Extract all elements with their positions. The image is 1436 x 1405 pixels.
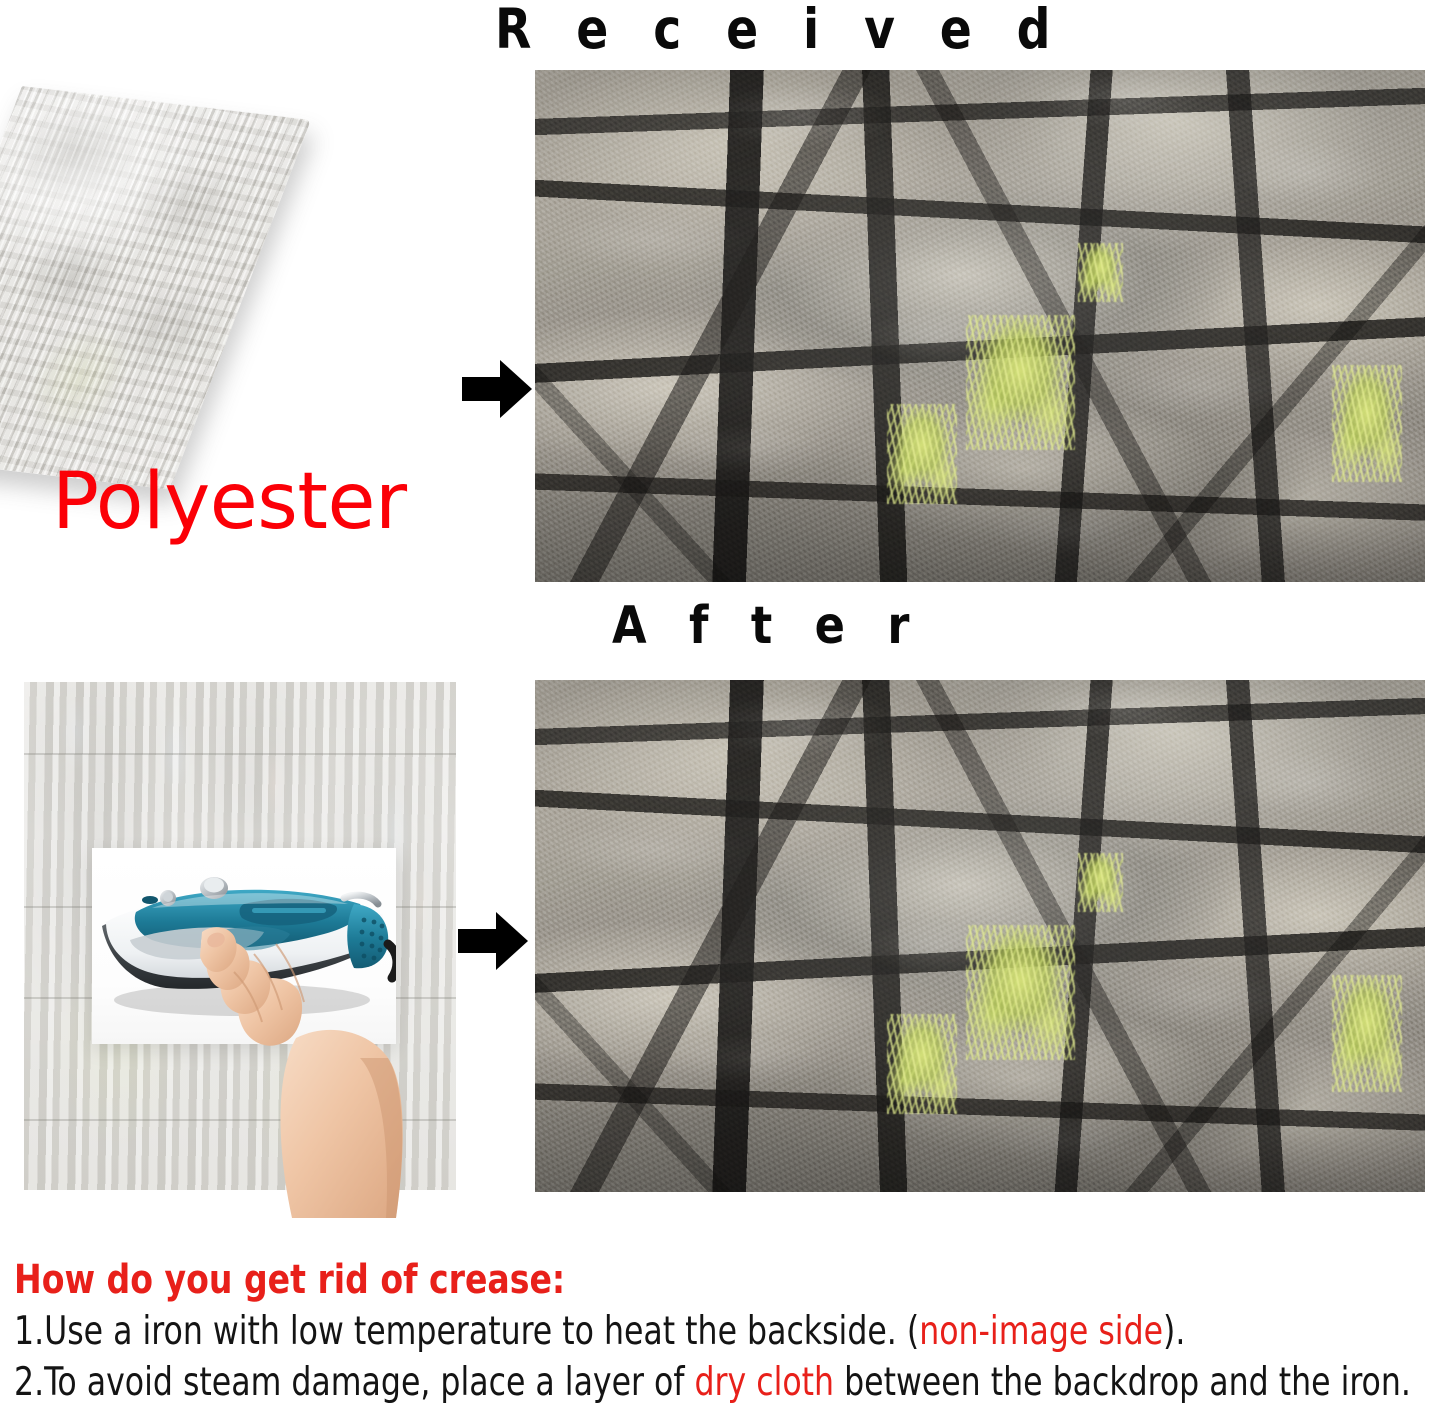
instructions-block: How do you get rid of crease: 1.Use a ir…: [14, 1258, 1428, 1405]
instruction-line-2-highlight: dry cloth: [694, 1360, 834, 1405]
instruction-line-1-highlight: non-image side: [919, 1309, 1163, 1354]
fabric-creases: [0, 86, 311, 490]
polyester-label: Polyester: [52, 463, 407, 541]
instruction-line-2: 2.To avoid steam damage, place a layer o…: [14, 1360, 1287, 1405]
arrow-shaft: [458, 929, 500, 953]
rock-shading: [535, 70, 1425, 582]
after-backdrop-photo: [535, 680, 1425, 1192]
wrinkle-band: [24, 1119, 456, 1121]
instruction-line-2-part1: 2.To avoid steam damage, place a layer o…: [14, 1360, 694, 1405]
instruction-line-1-part1: 1.Use a iron with low temperature to hea…: [14, 1309, 919, 1354]
after-heading: A f t e r: [612, 600, 923, 652]
received-backdrop-photo: [535, 70, 1425, 582]
instruction-line-1-part2: ).: [1163, 1309, 1185, 1354]
folded-fabric-image: [22, 86, 412, 486]
fabric-sheet: [0, 86, 311, 490]
arrow-head: [500, 360, 532, 418]
rock-shading: [535, 680, 1425, 1192]
arrow-head: [496, 912, 528, 970]
arrow-shaft: [462, 377, 504, 401]
arrow-right-icon: [462, 360, 534, 418]
received-heading: R e c e i v e d: [495, 2, 1065, 57]
rock-wall-texture: [535, 70, 1425, 582]
arrow-right-icon: [458, 912, 530, 970]
rock-wall-texture: [535, 680, 1425, 1192]
clothes-iron-icon: [92, 848, 396, 1044]
iron-demo-image: [92, 848, 396, 1044]
instruction-line-2-part2: between the backdrop and the iron.: [834, 1360, 1411, 1405]
instruction-line-1: 1.Use a iron with low temperature to hea…: [14, 1309, 1287, 1354]
wrinkle-band: [24, 753, 456, 755]
instructions-heading: How do you get rid of crease:: [14, 1258, 1315, 1303]
